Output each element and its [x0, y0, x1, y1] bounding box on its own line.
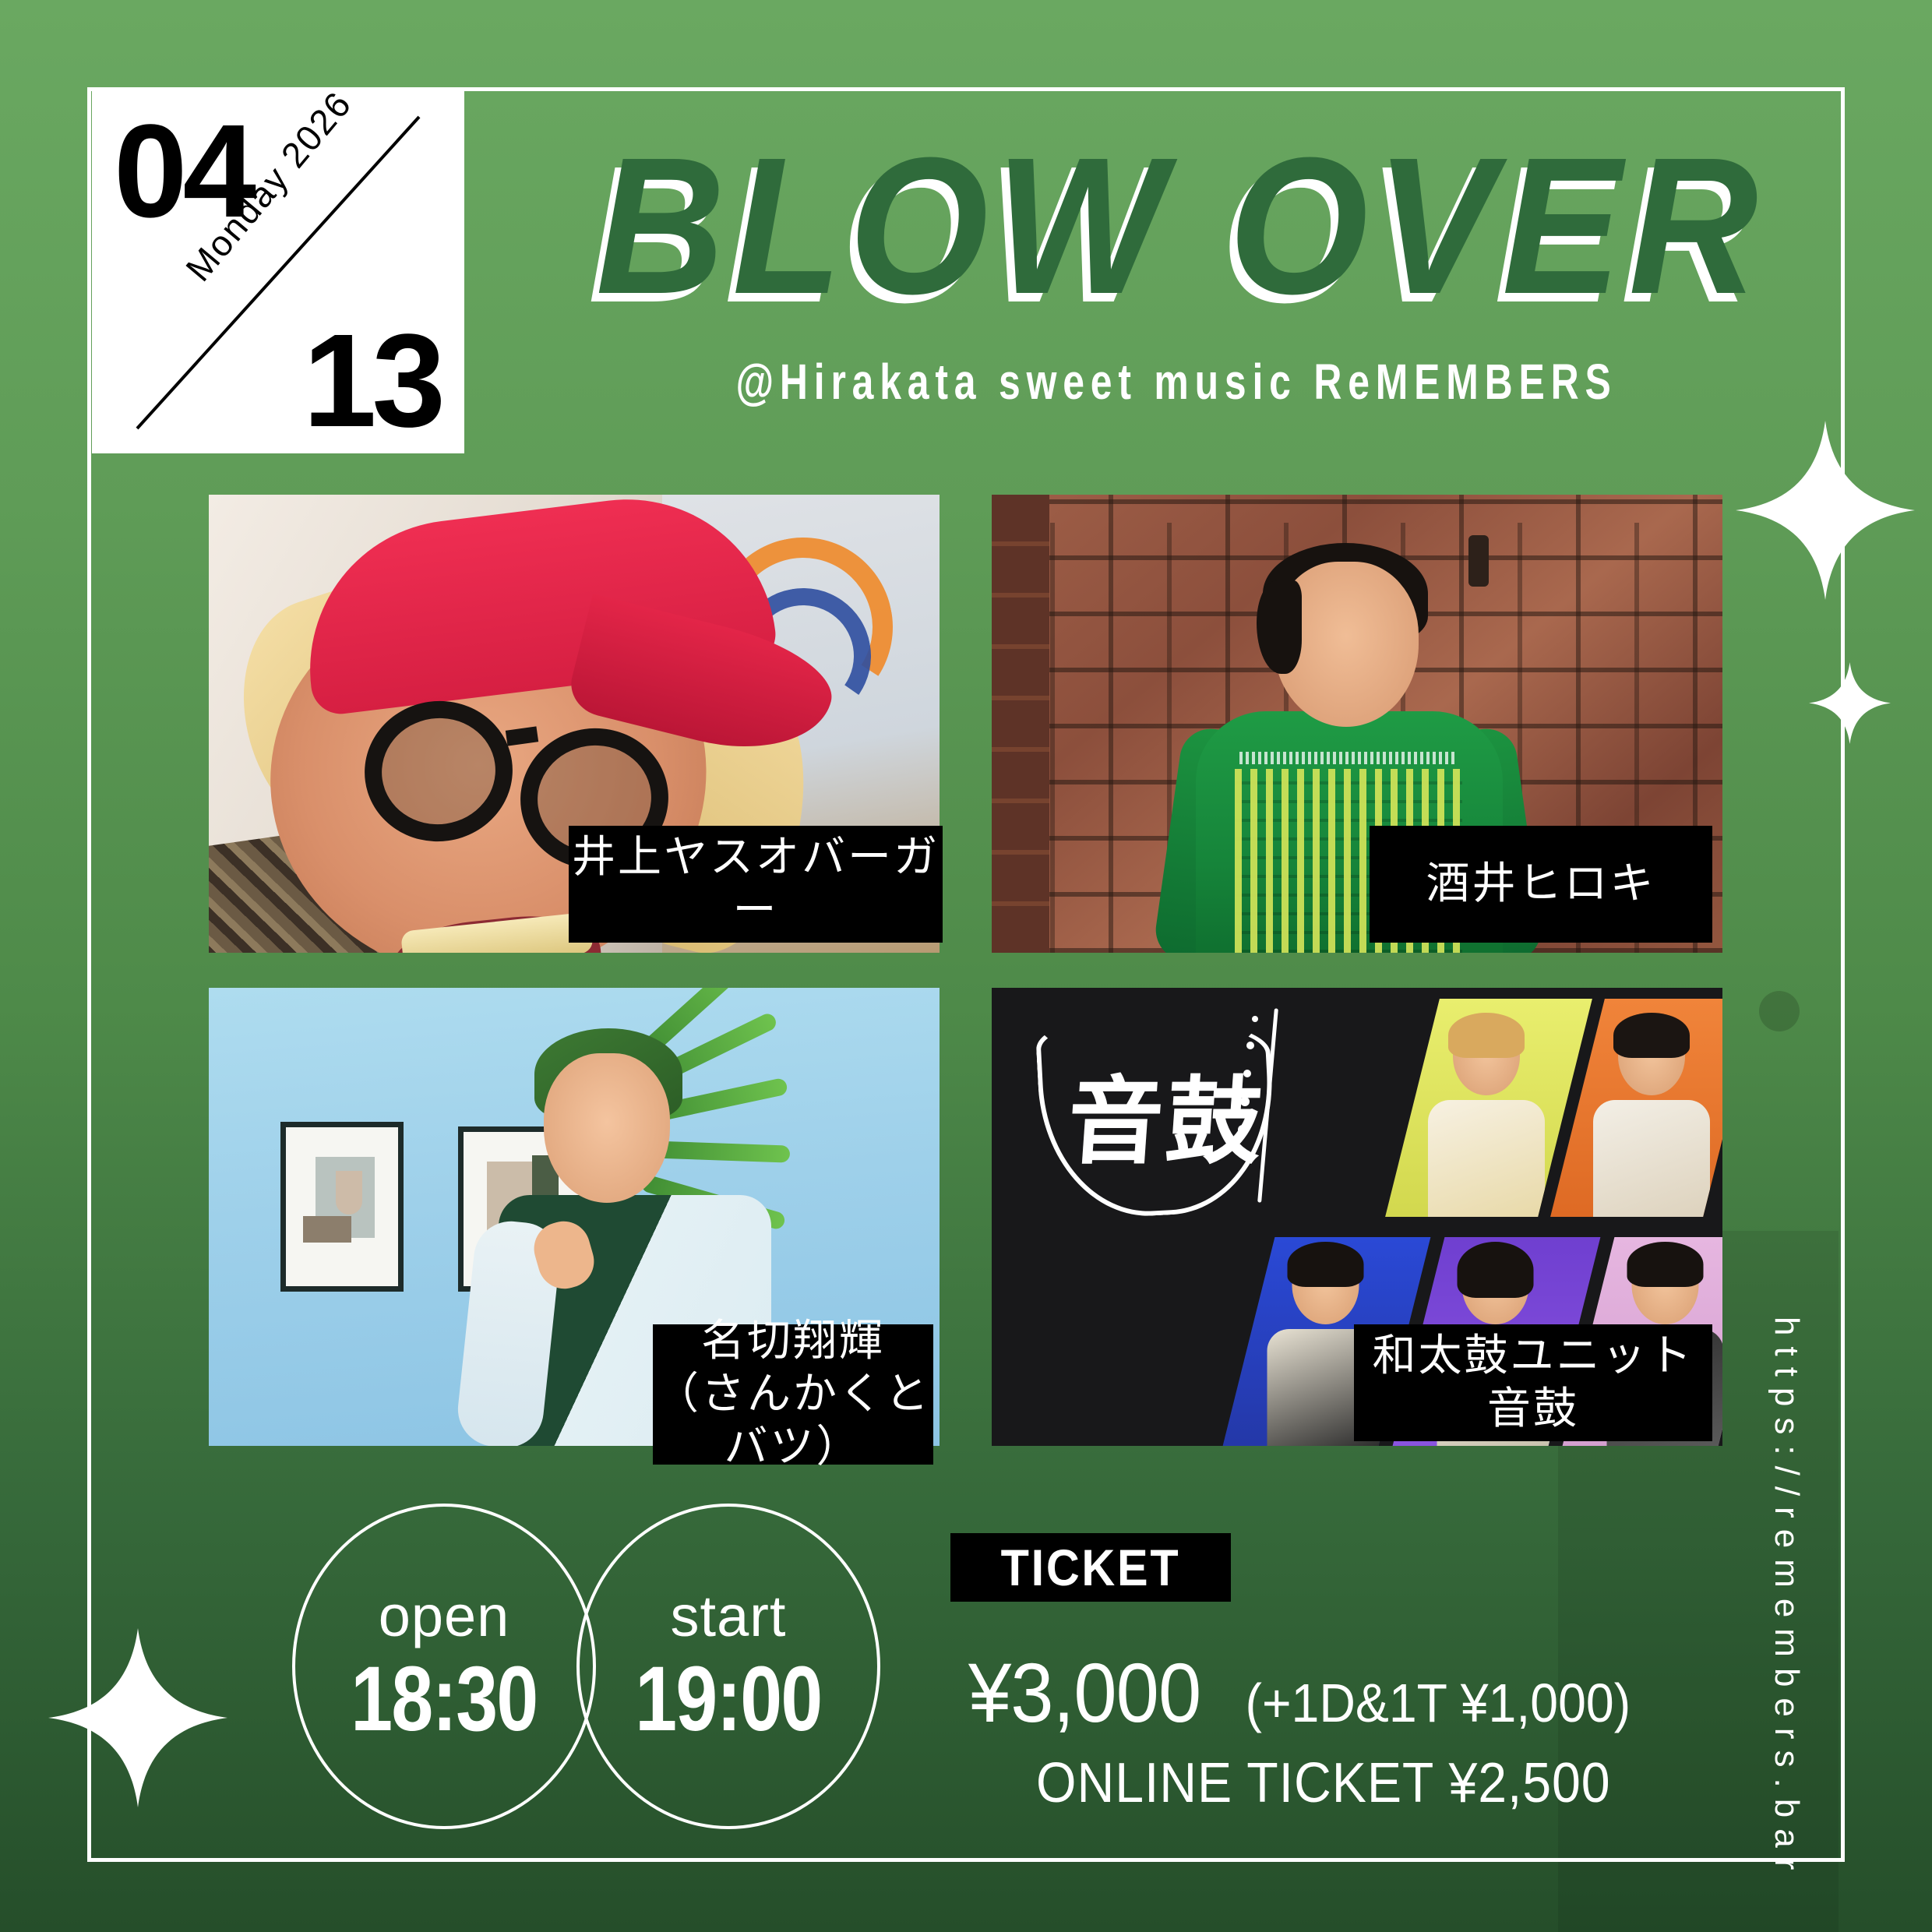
- open-time-circle: open 18:30: [292, 1504, 596, 1829]
- ticket-price-main: ¥3,000: [968, 1644, 1200, 1741]
- artist-caption-3-line1: 名切翔輝: [701, 1315, 885, 1368]
- date-day: 13: [303, 319, 441, 445]
- artist-caption-1-line1: 井上ヤスオバーガー: [569, 831, 943, 938]
- sparkle-icon-bottom-left: [48, 1628, 227, 1807]
- open-label: open: [379, 1588, 510, 1645]
- start-time-circle: start 19:00: [576, 1504, 880, 1829]
- event-title: BLOW OVER: [596, 129, 1757, 323]
- otodzu-logo: 音鼓: [1023, 1010, 1288, 1204]
- artist-caption-3-line2: （さんかくとバツ）: [653, 1368, 933, 1475]
- artist-caption-4: 和太鼓ユニット音鼓: [1354, 1324, 1712, 1441]
- artist-caption-4-line1: 和太鼓ユニット音鼓: [1354, 1330, 1712, 1437]
- artist-caption-1: 井上ヤスオバーガー: [569, 826, 943, 943]
- ticket-price-online: ONLINE TICKET ¥2,500: [1036, 1751, 1724, 1815]
- date-block: 04 Monday 2026 13: [92, 87, 464, 453]
- sparkle-icon-top-right: [1736, 421, 1915, 600]
- ticket-badge: TICKET: [950, 1533, 1231, 1602]
- artist-caption-2-line1: 酒井ヒロキ: [1426, 858, 1656, 911]
- decorative-dot: [1759, 991, 1800, 1031]
- open-time: 18:30: [351, 1653, 537, 1745]
- start-label: start: [671, 1588, 787, 1645]
- ticket-price-row: ¥3,000 (+1D&1T ¥1,000): [958, 1644, 1776, 1741]
- website-url[interactable]: https://remembers.bar: [1767, 1317, 1806, 1881]
- title-group: BLOW OVER @Hirakata sweet music ReMEMBER…: [545, 129, 1807, 411]
- sparkle-icon-small-right: [1809, 662, 1891, 744]
- start-time: 19:00: [635, 1653, 821, 1745]
- artist-caption-3: 名切翔輝 （さんかくとバツ）: [653, 1324, 933, 1465]
- artist-caption-2: 酒井ヒロキ: [1370, 826, 1712, 943]
- ticket-price-note: (+1D&1T ¥1,000): [1245, 1672, 1631, 1734]
- event-venue-subtitle: @Hirakata sweet music ReMEMBERS: [684, 353, 1669, 411]
- poster-canvas: 04 Monday 2026 13 BLOW OVER @Hirakata sw…: [0, 0, 1932, 1932]
